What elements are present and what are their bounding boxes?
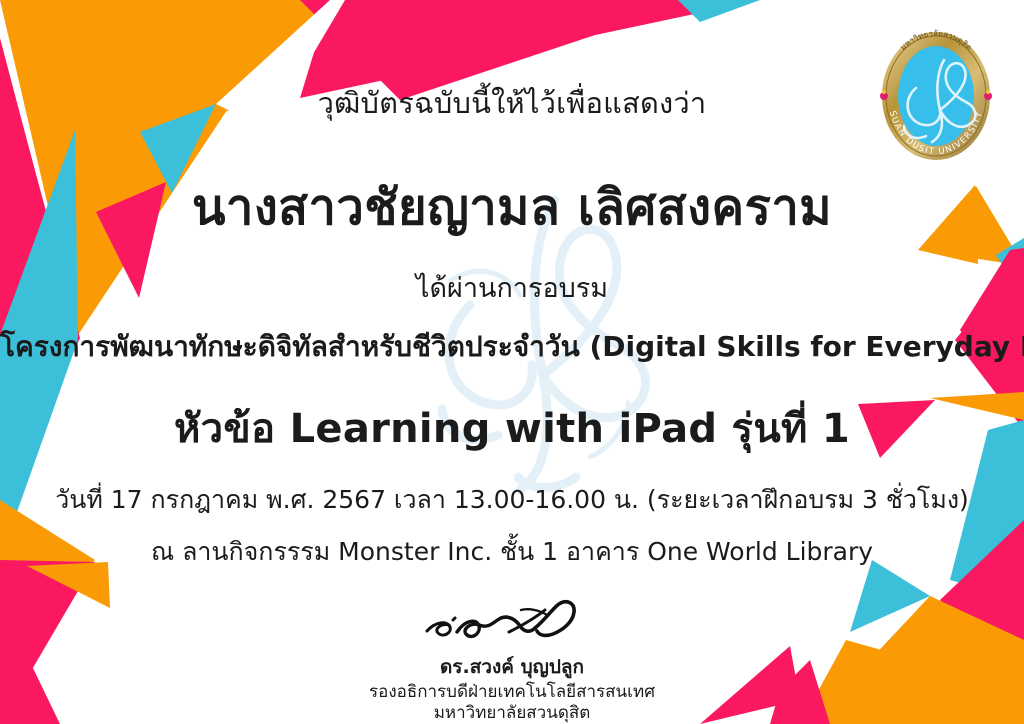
passed-line: ได้ผ่านการอบรม xyxy=(0,266,1024,309)
intro-line: วุฒิบัตรฉบับนี้ให้ไว้เพื่อแสดงว่า xyxy=(0,80,1024,126)
topic-title: หัวข้อ Learning with iPad รุ่นที่ 1 xyxy=(0,396,1024,460)
signer-title: รองอธิการบดีฝ่ายเทคโนโลยีสารสนเทศ xyxy=(0,682,1024,703)
recipient-name: นางสาวชัยญามล เลิศสงคราม xyxy=(0,168,1024,246)
handwritten-signature-icon xyxy=(417,598,607,650)
program-title: โครงการพัฒนาทักษะดิจิทัลสำหรับชีวิตประจำ… xyxy=(0,325,1024,369)
signer-name: ดร.สวงค์ บุญปลูก xyxy=(0,652,1024,682)
signature-block: ดร.สวงค์ บุญปลูก รองอธิการบดีฝ่ายเทคโนโล… xyxy=(0,598,1024,724)
signer-organization: มหาวิทยาลัยสวนดุสิต xyxy=(0,703,1024,724)
date-time-line: วันที่ 17 กรกฎาคม พ.ศ. 2567 เวลา 13.00-1… xyxy=(0,480,1024,520)
venue-line: ณ ลานกิจกรรรม Monster Inc. ชั้น 1 อาคาร … xyxy=(0,532,1024,572)
certificate-page: มหาวิทยาลัยสวนดุสิต SUAN DUSIT UNIVERSIT… xyxy=(0,0,1024,724)
